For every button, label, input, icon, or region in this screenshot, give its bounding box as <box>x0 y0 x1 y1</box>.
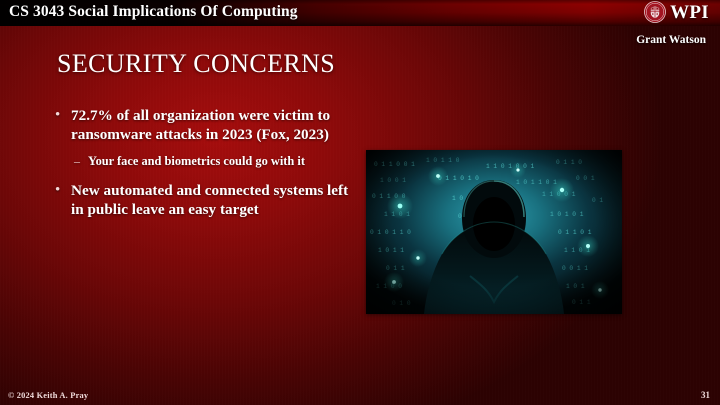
bullet-text: 72.7% of all organization were victim to… <box>71 107 330 143</box>
bullet-text: New automated and connected systems left… <box>71 182 348 218</box>
page-number: 31 <box>701 390 710 400</box>
wpi-seal-icon <box>644 1 666 23</box>
slide-title: SECURITY CONCERNS <box>57 49 335 79</box>
bullet-marker: • <box>55 181 60 199</box>
slide-canvas: CS 3043 Social Implications Of Computing… <box>0 0 720 405</box>
bullet-item: – Your face and biometrics could go with… <box>50 154 350 170</box>
copyright-notice: © 2024 Keith A. Pray <box>8 391 88 400</box>
course-title: CS 3043 Social Implications Of Computing <box>9 3 298 21</box>
wpi-wordmark: WPI <box>670 3 709 22</box>
bullet-item: • New automated and connected systems le… <box>50 181 350 220</box>
presenter-name: Grant Watson <box>636 34 706 46</box>
bullet-list: • 72.7% of all organization were victim … <box>50 106 350 228</box>
hacker-silhouette-image: 0 1 1 0 0 1 1 0 1 1 0 1 1 0 1 0 0 1 0 1 … <box>366 150 622 314</box>
bullet-marker: – <box>74 154 80 170</box>
bullet-marker: • <box>55 106 60 124</box>
bullet-item: • 72.7% of all organization were victim … <box>50 106 350 145</box>
bullet-text: Your face and biometrics could go with i… <box>88 154 305 168</box>
wpi-logo: WPI <box>644 1 709 23</box>
